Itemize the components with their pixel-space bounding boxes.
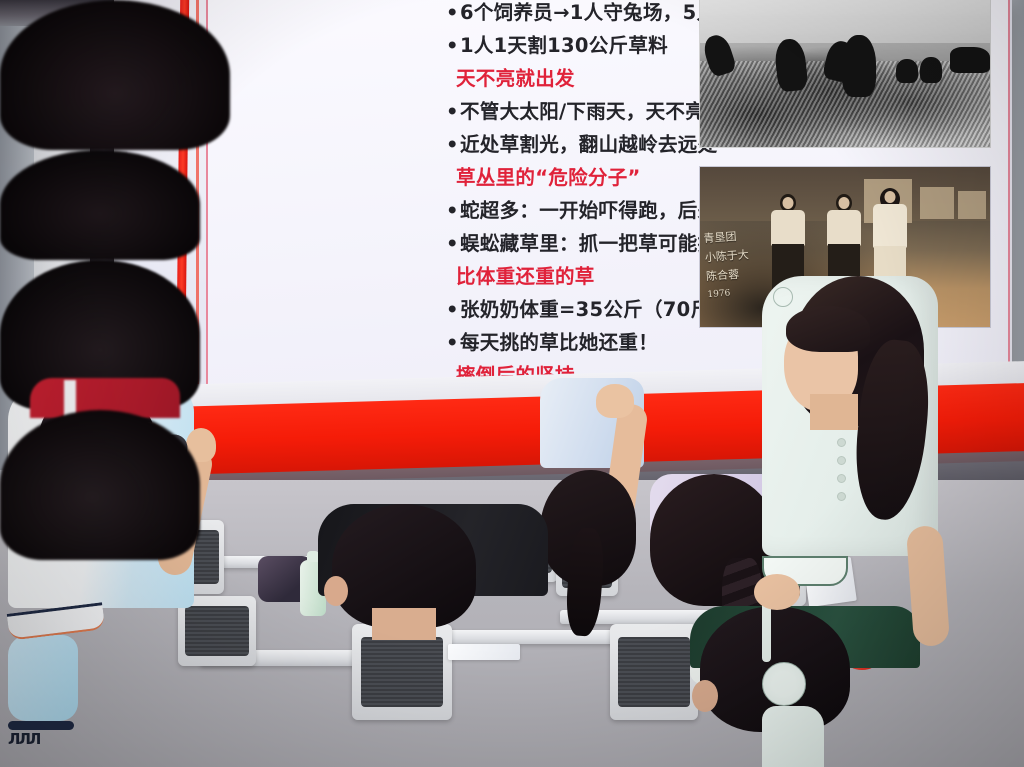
portrait-shirt — [771, 210, 805, 246]
teacher-neck — [810, 394, 858, 430]
handwriting-line: 1976 — [707, 282, 770, 305]
student-neck — [372, 608, 436, 640]
slide-line-text: 近处草割光，翻山越岭去远处 — [460, 133, 717, 156]
historical-field-photo — [699, 0, 991, 148]
teacher-hand — [754, 574, 800, 610]
polo-button — [837, 474, 846, 483]
bullet-dot: • — [446, 0, 460, 29]
shirt-logo: ЛЛЛ — [8, 730, 54, 748]
polo-sleeve — [8, 635, 78, 721]
portrait-building — [958, 191, 986, 219]
foreground-student-head — [0, 260, 200, 410]
photo-worker — [920, 57, 942, 83]
foreground-student-head — [0, 0, 230, 150]
teacher-bangs — [786, 306, 870, 352]
bullet-dot: • — [446, 194, 460, 227]
polo-collar — [7, 602, 106, 640]
slide-line-text: 每天挑的草比她还重！ — [460, 331, 658, 354]
photo-hillside — [950, 47, 990, 73]
polo-button — [837, 492, 846, 501]
polo-button — [837, 438, 846, 447]
portrait-shirt — [827, 210, 861, 246]
portrait-handwriting: 青垦团 小陈于大 陈合蓉 1976 — [703, 225, 771, 321]
polo-cuff — [8, 721, 74, 730]
bullet-dot: • — [446, 326, 460, 359]
photo-sea-area — [700, 0, 990, 43]
portrait-shirt — [873, 204, 907, 248]
student-ear — [324, 576, 348, 606]
photo-worker — [842, 35, 876, 97]
polo-button — [837, 456, 846, 465]
bullet-dot: • — [446, 29, 460, 62]
photo-worker — [773, 38, 808, 93]
bullet-dot: • — [446, 128, 460, 161]
raised-hand — [596, 384, 634, 418]
portrait-face — [839, 197, 850, 209]
portrait-face — [783, 197, 794, 209]
portrait-face — [885, 191, 896, 203]
slide-line-text: 张奶奶体重=35公斤（70斤） — [460, 298, 730, 321]
slide-line-text: 1人1天割130公斤草料 — [460, 34, 668, 57]
school-crest-icon — [762, 662, 806, 706]
foreground-student-head — [0, 150, 200, 260]
bullet-dot: • — [446, 95, 460, 128]
teacher-arm — [906, 525, 950, 647]
photo-worker — [896, 59, 918, 83]
teacher[interactable] — [762, 276, 982, 696]
polo-sleeve — [762, 706, 824, 767]
portrait-building — [920, 187, 954, 219]
classroom-scene: •6个饲养员→1人守兔场，5人割草 •1人1天割130公斤草料 天不亮就出发 •… — [0, 0, 1024, 767]
bullet-dot: • — [446, 293, 460, 326]
student-black-shirt[interactable] — [318, 504, 558, 704]
foreground-student-head — [0, 410, 200, 560]
bullet-dot: • — [446, 227, 460, 260]
student-ear — [692, 680, 718, 712]
